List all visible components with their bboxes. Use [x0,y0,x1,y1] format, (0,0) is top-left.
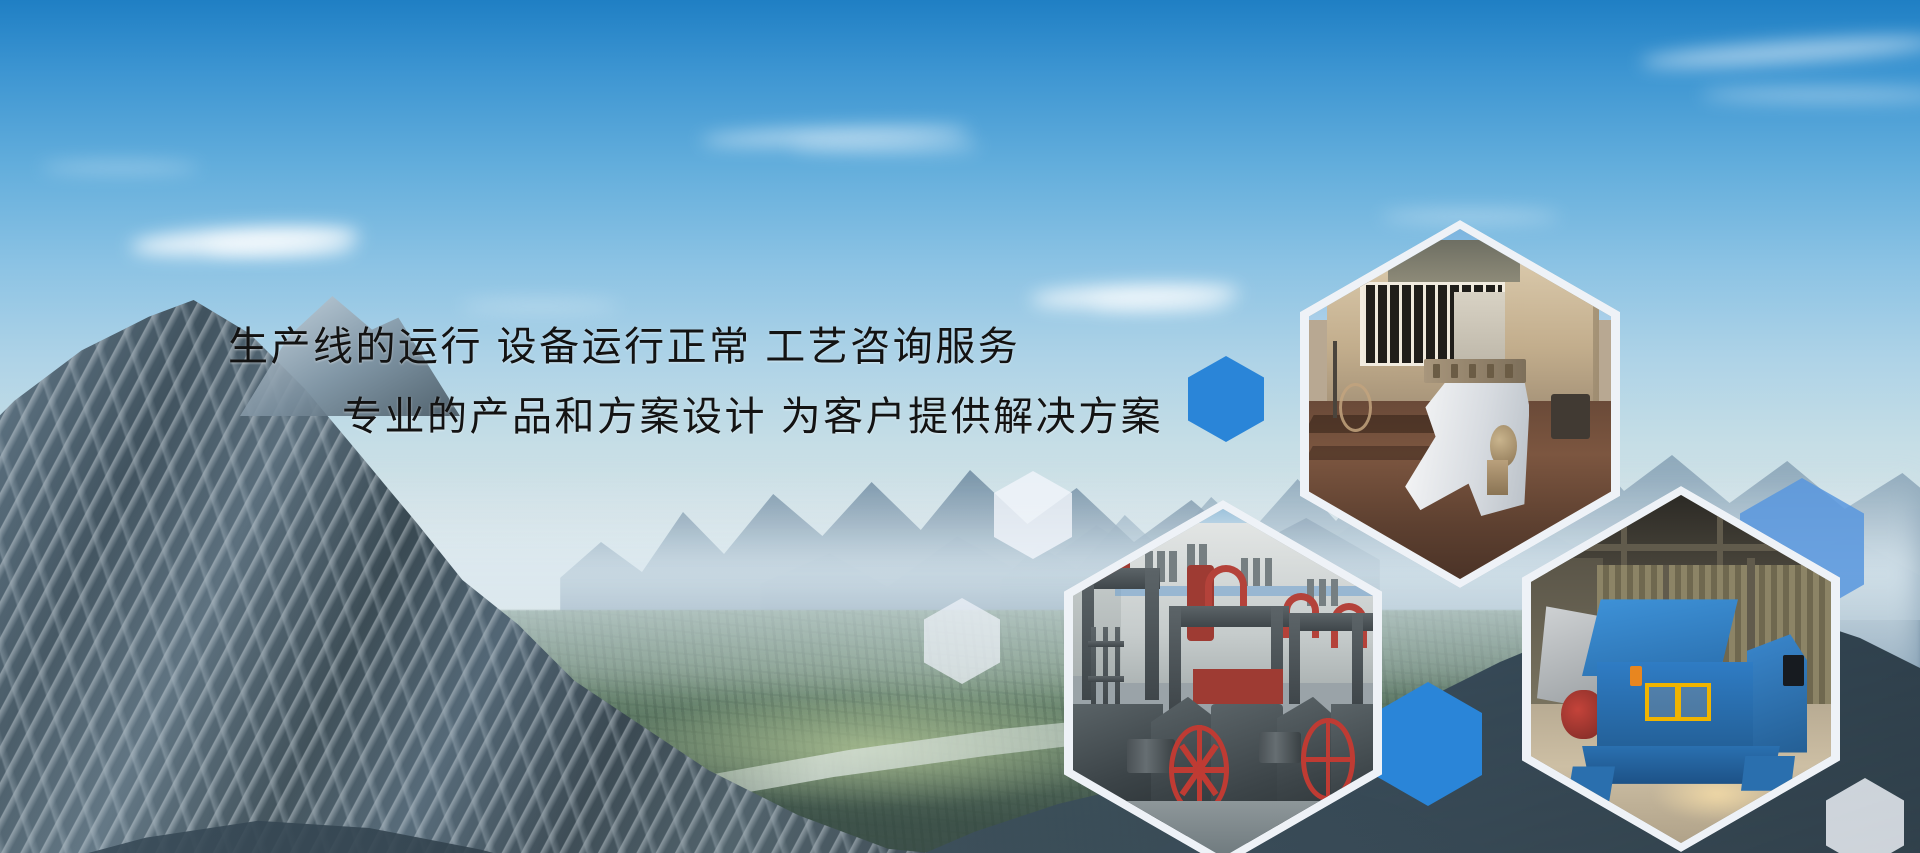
decorative-hexagon-white-lower [924,598,1000,684]
decorative-hexagon-white-upper [994,471,1072,559]
decorative-hexagon-blue-lower [1374,682,1482,806]
headline-line-2: 专业的产品和方案设计 为客户提供解决方案 [0,388,1000,446]
decorative-hexagon-white-corner [1826,778,1904,853]
headline-line-1: 生产线的运行 设备运行正常 工艺咨询服务 [0,318,1000,376]
headline-block: 生产线的运行 设备运行正常 工艺咨询服务 专业的产品和方案设计 为客户提供解决方… [0,318,1000,447]
product-hexagon-crusher[interactable] [1300,220,1620,588]
hero-banner: 生产线的运行 设备运行正常 工艺咨询服务 专业的产品和方案设计 为客户提供解决方… [0,0,1920,853]
product-hexagon-press[interactable] [1064,500,1382,853]
decorative-hexagon-blue-upper [1188,356,1264,442]
